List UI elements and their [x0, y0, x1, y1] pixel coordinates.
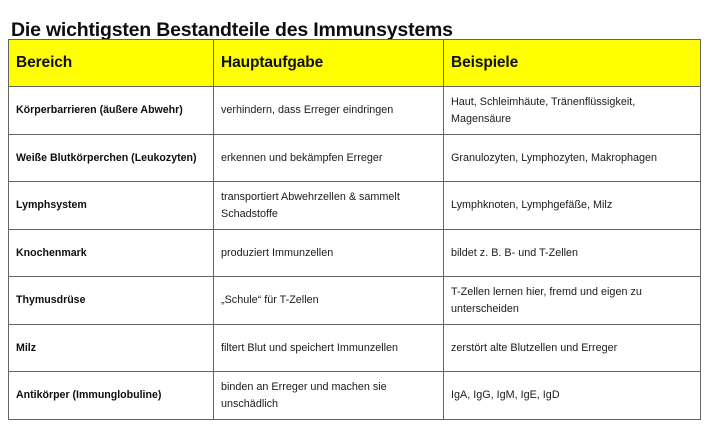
table-row: Körperbarrieren (äußere Abwehr) verhinde…: [9, 87, 701, 135]
table-row: Knochenmark produziert Immunzellen bilde…: [9, 230, 701, 277]
cell-task: transportiert Abwehrzellen & sammelt Sch…: [214, 182, 444, 230]
document-page: Die wichtigsten Bestandteile des Immunsy…: [0, 0, 709, 434]
cell-area: Milz: [9, 325, 214, 372]
cell-task: verhindern, dass Erreger eindringen: [214, 87, 444, 135]
cell-area: Lymphsystem: [9, 182, 214, 230]
cell-examples: Granulozyten, Lymphozyten, Makrophagen: [444, 135, 701, 182]
cell-area: Weiße Blutkörperchen (Leukozyten): [9, 135, 214, 182]
cell-task: filtert Blut und speichert Immunzellen: [214, 325, 444, 372]
table-row: Milz filtert Blut und speichert Immunzel…: [9, 325, 701, 372]
cell-task: erkennen und bekämpfen Erreger: [214, 135, 444, 182]
cell-examples: IgA, IgG, IgM, IgE, IgD: [444, 372, 701, 420]
table-row: Lymphsystem transportiert Abwehrzellen &…: [9, 182, 701, 230]
immune-system-table-container: Bereich Hauptaufgabe Beispiele Körperbar…: [8, 39, 700, 420]
table-body: Körperbarrieren (äußere Abwehr) verhinde…: [9, 87, 701, 420]
immune-system-table: Bereich Hauptaufgabe Beispiele Körperbar…: [8, 39, 701, 420]
cell-area: Thymusdrüse: [9, 277, 214, 325]
table-row: Thymusdrüse „Schule“ für T-Zellen T-Zell…: [9, 277, 701, 325]
table-header-row: Bereich Hauptaufgabe Beispiele: [9, 40, 701, 87]
cell-examples: Lymphknoten, Lymphgefäße, Milz: [444, 182, 701, 230]
column-header-bereich: Bereich: [9, 40, 214, 87]
cell-task: „Schule“ für T-Zellen: [214, 277, 444, 325]
cell-examples: Haut, Schleimhäute, Tränenflüssigkeit, M…: [444, 87, 701, 135]
table-row: Antikörper (Immunglobuline) binden an Er…: [9, 372, 701, 420]
table-row: Weiße Blutkörperchen (Leukozyten) erkenn…: [9, 135, 701, 182]
cell-examples: T-Zellen lernen hier, fremd und eigen zu…: [444, 277, 701, 325]
cell-task: produziert Immunzellen: [214, 230, 444, 277]
cell-area: Knochenmark: [9, 230, 214, 277]
cell-examples: zerstört alte Blutzellen und Erreger: [444, 325, 701, 372]
cell-area: Antikörper (Immunglobuline): [9, 372, 214, 420]
table-header: Bereich Hauptaufgabe Beispiele: [9, 40, 701, 87]
cell-examples: bildet z. B. B- und T-Zellen: [444, 230, 701, 277]
column-header-hauptaufgabe: Hauptaufgabe: [214, 40, 444, 87]
column-header-beispiele: Beispiele: [444, 40, 701, 87]
cell-area: Körperbarrieren (äußere Abwehr): [9, 87, 214, 135]
cell-task: binden an Erreger und machen sie unschäd…: [214, 372, 444, 420]
